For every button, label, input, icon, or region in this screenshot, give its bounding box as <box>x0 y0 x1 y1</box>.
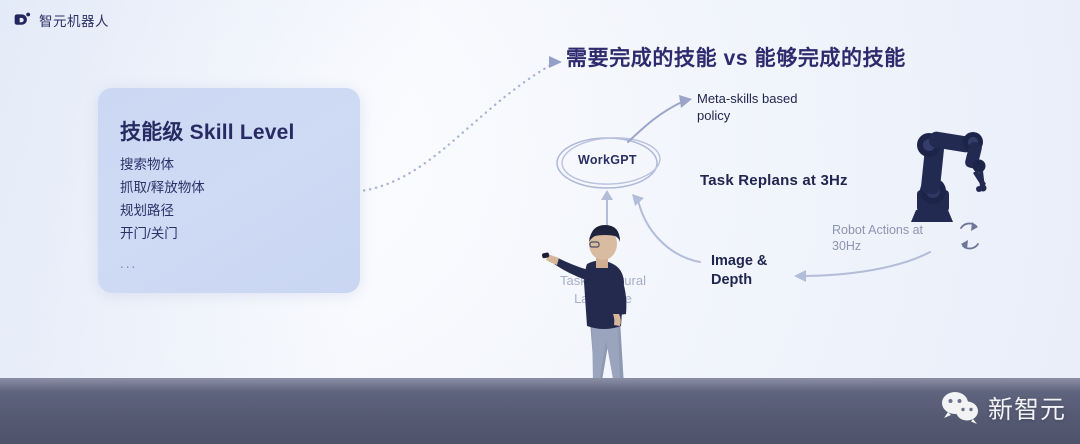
agibot-d-logo-icon <box>12 10 32 30</box>
watermark-text: 新智元 <box>988 390 1066 426</box>
label-task-replans: Task Replans at 3Hz <box>700 172 848 189</box>
label-image-depth: Image & Depth <box>711 252 767 290</box>
list-item: 抓取/释放物体 <box>120 176 205 199</box>
list-item: 开门/关门 <box>120 222 205 245</box>
page-title: 需要完成的技能 vs 能够完成的技能 <box>566 42 906 72</box>
list-item-more: ... <box>120 245 205 275</box>
brand-logo: 智元机器人 <box>12 10 109 30</box>
robot-arm-icon <box>893 98 997 228</box>
skill-card-title: 技能级 Skill Level <box>120 116 295 146</box>
list-item: 搜索物体 <box>120 153 205 176</box>
workgpt-node-label: WorkGPT <box>578 153 637 167</box>
stage-floor-edge <box>0 378 1080 392</box>
list-item: 规划路径 <box>120 199 205 222</box>
wechat-logo-icon <box>940 391 980 425</box>
brand-name: 智元机器人 <box>39 10 109 30</box>
label-meta-skills: Meta-skills based policy <box>697 90 797 124</box>
watermark: 新智元 <box>940 390 1066 426</box>
skill-level-card: 技能级 Skill Level 搜索物体 抓取/释放物体 规划路径 开门/关门 … <box>98 88 360 293</box>
screenshot-root: 智元机器人 技能级 Skill Level 搜索物体 抓取/释放物体 规划路径 … <box>0 0 1080 444</box>
skill-card-list: 搜索物体 抓取/释放物体 规划路径 开门/关门 ... <box>120 153 205 275</box>
